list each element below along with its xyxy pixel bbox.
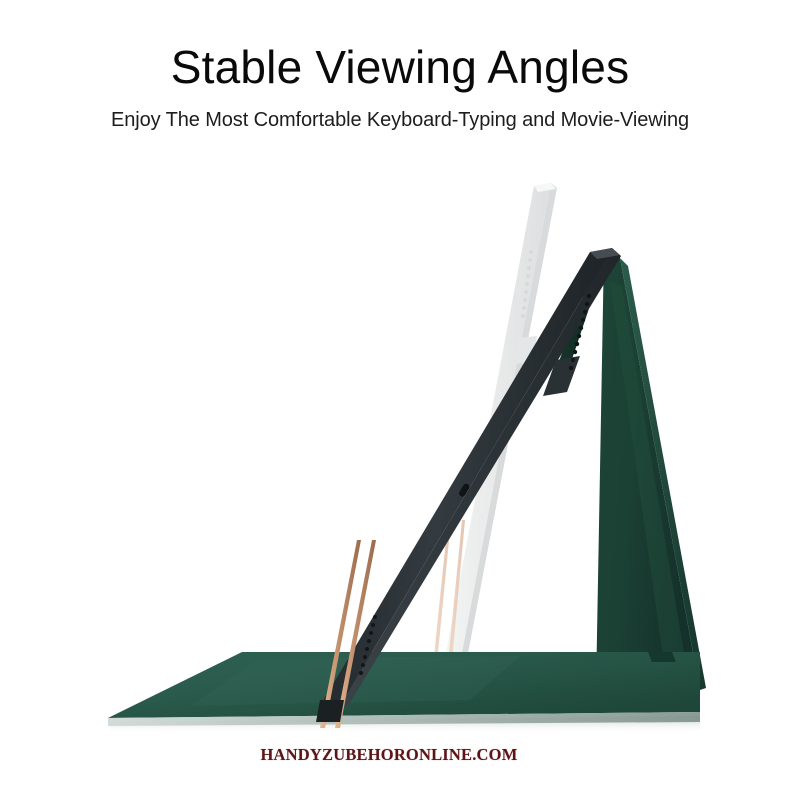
product-illustration (0, 0, 800, 800)
case-base-flap (108, 652, 700, 734)
tablet-side (340, 248, 621, 706)
product-image (0, 0, 800, 800)
tablet-bottom-tip (316, 700, 344, 722)
watermark: HANDYZUBEHORONLINE.COM (0, 745, 800, 765)
base-notch (648, 652, 676, 662)
watermark-text: HANDYZUBEHORONLINE.COM (261, 745, 518, 764)
kickstand-back-panel (596, 250, 706, 696)
product-marketing-banner: Stable Viewing Angles Enjoy The Most Com… (0, 0, 800, 800)
